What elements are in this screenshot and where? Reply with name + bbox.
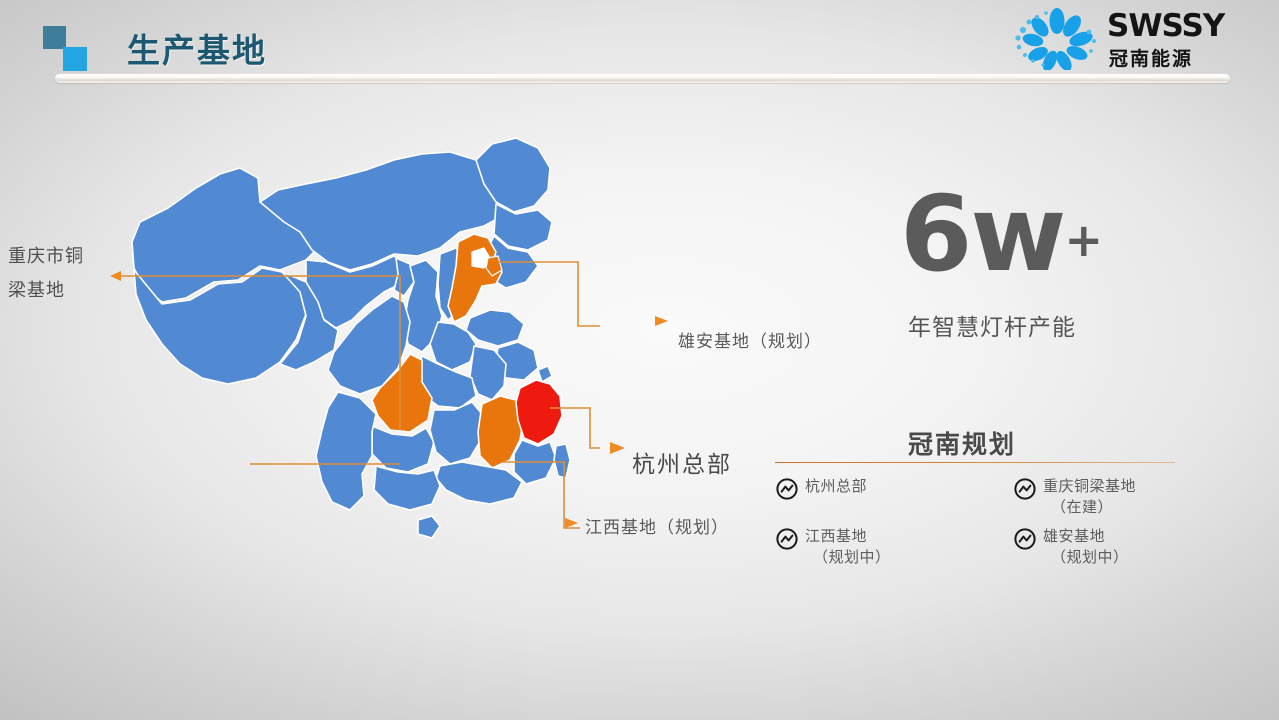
logo-brand-latin: SWSSY	[1107, 8, 1224, 44]
decoration-square-light	[63, 47, 87, 71]
plan-item-xiongan[interactable]: 雄安基地 （规划中）	[1013, 526, 1129, 568]
company-logo: SWSSY 冠南能源	[1009, 6, 1269, 72]
province-guizhou	[372, 426, 434, 472]
arrowhead-xiongan	[655, 316, 668, 326]
plan-item-text: 雄安基地 （规划中）	[1043, 526, 1129, 568]
city-shanghai	[538, 366, 552, 382]
province-guangdong	[436, 462, 522, 504]
plan-item-status: （规划中）	[805, 547, 891, 568]
plan-item-status: （规划中）	[1043, 547, 1129, 568]
plan-items-grid: 杭州总部 江西基地 （规划中） 重庆铜梁基地 （在建）	[775, 474, 1180, 584]
province-taiwan	[554, 444, 570, 478]
plan-section-divider	[775, 462, 1175, 463]
capacity-stat-plus: +	[1064, 213, 1103, 267]
plan-item-name: 杭州总部	[805, 477, 867, 495]
map-label-jiangxi: 江西基地（规划）	[585, 513, 729, 538]
plan-item-text: 江西基地 （规划中）	[805, 526, 891, 568]
header-decoration-squares	[43, 26, 103, 71]
slide-canvas: 生产基地	[0, 0, 1279, 720]
logo-brand-chinese: 冠南能源	[1109, 44, 1193, 71]
arrow-chongqing	[110, 271, 121, 281]
province-shandong	[466, 310, 524, 346]
capacity-stat-number: 6w+	[900, 182, 1103, 286]
plan-item-name: 雄安基地	[1043, 527, 1105, 545]
province-hainan	[418, 516, 440, 538]
header-divider-bar	[55, 74, 1230, 83]
province-yunnan	[316, 392, 376, 510]
province-hunan	[430, 402, 482, 464]
china-map-svg	[110, 130, 600, 570]
plan-item-text: 重庆铜梁基地 （在建）	[1043, 476, 1136, 518]
capacity-stat-value: 6w	[900, 173, 1064, 295]
china-map	[110, 130, 600, 570]
plan-item-name: 重庆铜梁基地	[1043, 477, 1136, 495]
province-zhejiang-highlight	[516, 380, 562, 444]
map-label-hangzhou: 杭州总部	[632, 445, 732, 479]
province-guangxi	[374, 466, 440, 510]
map-label-chongqing: 重庆市铜 梁基地	[8, 240, 84, 308]
capacity-stat-caption: 年智慧灯杆产能	[908, 308, 1076, 342]
plan-item-text: 杭州总部	[805, 476, 867, 497]
lightning-circle-icon	[775, 527, 799, 551]
lightning-circle-icon	[1013, 527, 1037, 551]
decoration-square-dark	[43, 26, 66, 49]
plan-item-status: （在建）	[1043, 497, 1136, 518]
lightning-circle-icon	[1013, 477, 1037, 501]
plan-item-chongqing[interactable]: 重庆铜梁基地 （在建）	[1013, 476, 1136, 518]
plan-item-hangzhou[interactable]: 杭州总部	[775, 476, 867, 501]
page-title: 生产基地	[127, 24, 267, 72]
lightning-circle-icon	[775, 477, 799, 501]
arrowhead-hangzhou	[610, 442, 625, 454]
plan-section-title: 冠南规划	[908, 425, 1016, 461]
swssy-petal-logo-icon	[1009, 8, 1105, 70]
map-label-chongqing-line1: 重庆市铜	[8, 240, 84, 274]
map-label-chongqing-line2: 梁基地	[8, 274, 84, 308]
map-connector-arrowheads	[110, 271, 121, 281]
map-label-xiongan: 雄安基地（规划）	[678, 327, 822, 352]
province-hebei-highlight	[448, 234, 502, 322]
plan-item-jiangxi[interactable]: 江西基地 （规划中）	[775, 526, 891, 568]
plan-item-name: 江西基地	[805, 527, 867, 545]
